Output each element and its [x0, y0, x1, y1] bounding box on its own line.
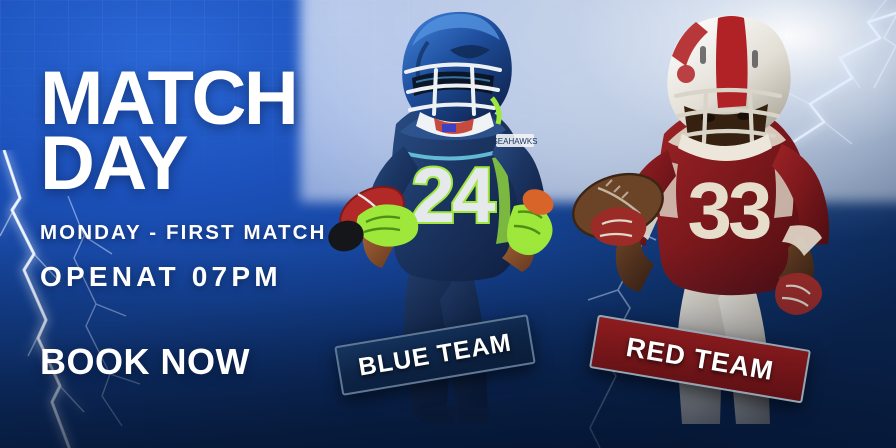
match-day-banner: 24: [0, 0, 896, 448]
open-time-text: OPENAT 07PM: [40, 261, 370, 293]
page-title: MATCH DAY: [40, 66, 370, 197]
promo-copy: MATCH DAY MONDAY - FIRST MATCH OPENAT 07…: [40, 66, 370, 383]
headline-line-2: DAY: [40, 131, 370, 196]
match-subline: MONDAY - FIRST MATCH: [40, 221, 370, 245]
book-now-button[interactable]: BOOK NOW: [40, 341, 370, 383]
